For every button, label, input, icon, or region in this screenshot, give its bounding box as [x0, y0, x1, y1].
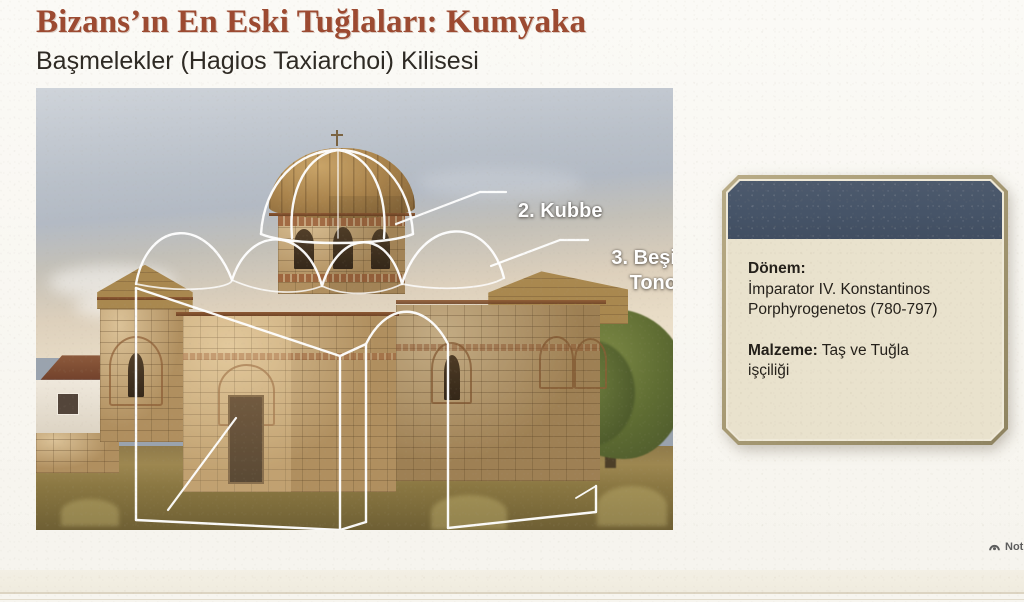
lighting-shadow: [396, 305, 600, 482]
deck-next-slide-edge-2: [0, 594, 1024, 602]
info-card-content: Dönem: İmparator IV. Konstantinos Porphy…: [728, 239, 1002, 439]
info-card: Dönem: İmparator IV. Konstantinos Porphy…: [722, 175, 1008, 445]
neighbour-house-window: [57, 393, 79, 415]
watermark: Not: [988, 540, 1024, 553]
lighting-shadow: [329, 196, 405, 293]
notebooklm-icon: [988, 540, 1001, 553]
page-subtitle: Başmelekler (Hagios Taxiarchoi) Kilisesi: [36, 45, 736, 77]
info-card-spacer: [748, 321, 986, 341]
side-cornice: [396, 300, 606, 304]
annotation-label-besik-tonoz-line1: 3. Beşik: [601, 246, 673, 271]
info-card-header-band: [728, 181, 1002, 239]
annotation-label-kubbe: 2. Kubbe: [518, 199, 602, 224]
west-window: [128, 353, 145, 397]
page-title: Bizans’ın En Eski Tuğlaları: Kumyaka: [36, 3, 736, 42]
grass-tuft: [61, 499, 118, 526]
watermark-label: Not: [1005, 541, 1023, 553]
church-photo: 2. Kubbe 3. Beşik Tonoz 1. Kare Plan: [36, 88, 673, 530]
cloud-shape: [418, 168, 584, 199]
deck-divider-line-2: [0, 599, 1024, 600]
info-card-malzeme-row: Malzeme: Taş ve Tuğla: [748, 341, 986, 362]
annotation-label-besik-tonoz: 3. Beşik Tonoz: [601, 246, 673, 296]
info-card-malzeme-label: Malzeme:: [748, 342, 818, 359]
slide-root: Bizans’ın En Eski Tuğlaları: Kumyaka Baş…: [0, 0, 1024, 602]
info-card-donem-value-line1: İmparator IV. Konstantinos: [748, 280, 986, 301]
drum-window: [294, 229, 314, 269]
annotation-label-besik-tonoz-line2: Tonoz: [601, 271, 673, 296]
info-card-donem-value-line2: Porphyrogenetos (780-797): [748, 300, 986, 321]
grass-tuft: [597, 486, 667, 526]
roof-cross-icon: [336, 130, 338, 146]
slide-heading: Bizans’ın En Eski Tuğlaları: Kumyaka Baş…: [36, 3, 736, 77]
info-card-body: Dönem: İmparator IV. Konstantinos Porphy…: [728, 181, 1002, 439]
info-card-donem-label: Dönem:: [748, 259, 986, 280]
photo-canvas: [36, 88, 673, 530]
grass-tuft: [431, 495, 507, 530]
west-cornice: [97, 297, 193, 300]
info-card-malzeme-value: Taş ve Tuğla: [818, 342, 909, 359]
lighting-highlight: [183, 316, 291, 493]
info-card-malzeme-value-line2: işçiliği: [748, 361, 986, 382]
deck-next-slide-edge: [0, 570, 1024, 592]
